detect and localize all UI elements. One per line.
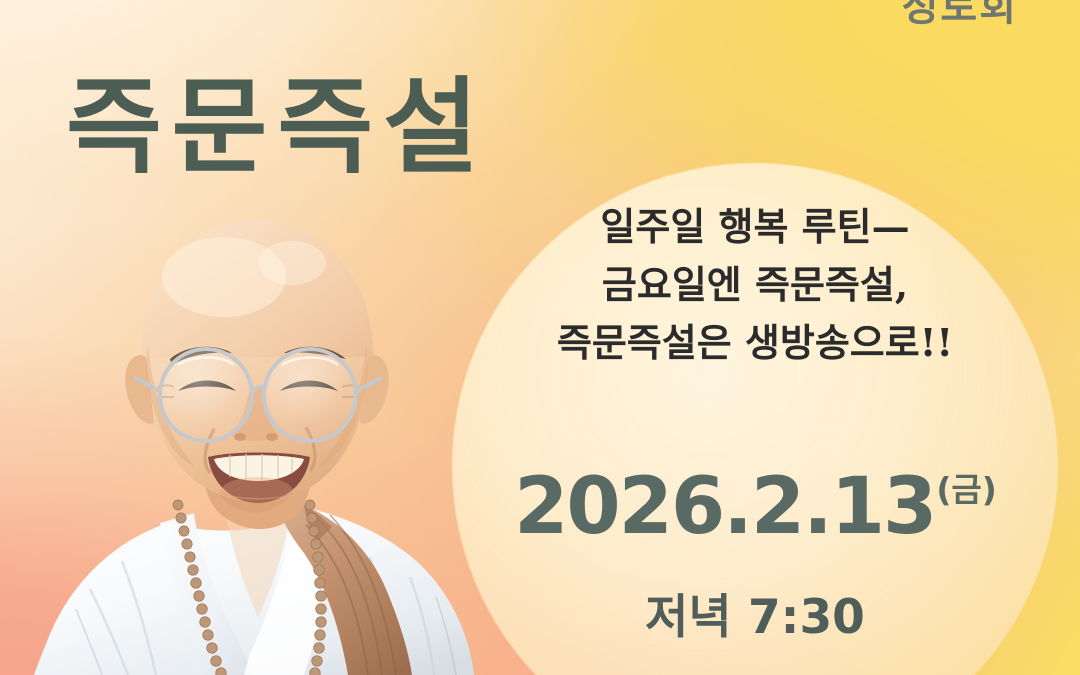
event-date: 2026.2.13(금) <box>455 462 1055 552</box>
tagline-line-2: 금요일엔 즉문즉설, <box>455 256 1055 314</box>
poster-canvas: 정토회 즉문즉설 일주일 행복 루틴— 금요일엔 즉문즉설, 즉문즉설은 생방송… <box>0 0 1080 675</box>
event-date-weekday: (금) <box>936 470 997 509</box>
head <box>125 219 388 505</box>
speaker-photo <box>18 205 488 675</box>
organization-name: 정토회 <box>902 0 1018 32</box>
tagline-line-1: 일주일 행복 루틴— <box>455 198 1055 256</box>
page-title: 즉문즉설 <box>66 62 489 192</box>
tagline-line-3: 즉문즉설은 생방송으로!! <box>455 314 1055 372</box>
tagline-block: 일주일 행복 루틴— 금요일엔 즉문즉설, 즉문즉설은 생방송으로!! <box>455 198 1055 371</box>
event-time: 저녁 7:30 <box>455 578 1055 647</box>
event-date-value: 2026.2.13 <box>514 462 935 552</box>
robe-group <box>34 505 474 675</box>
